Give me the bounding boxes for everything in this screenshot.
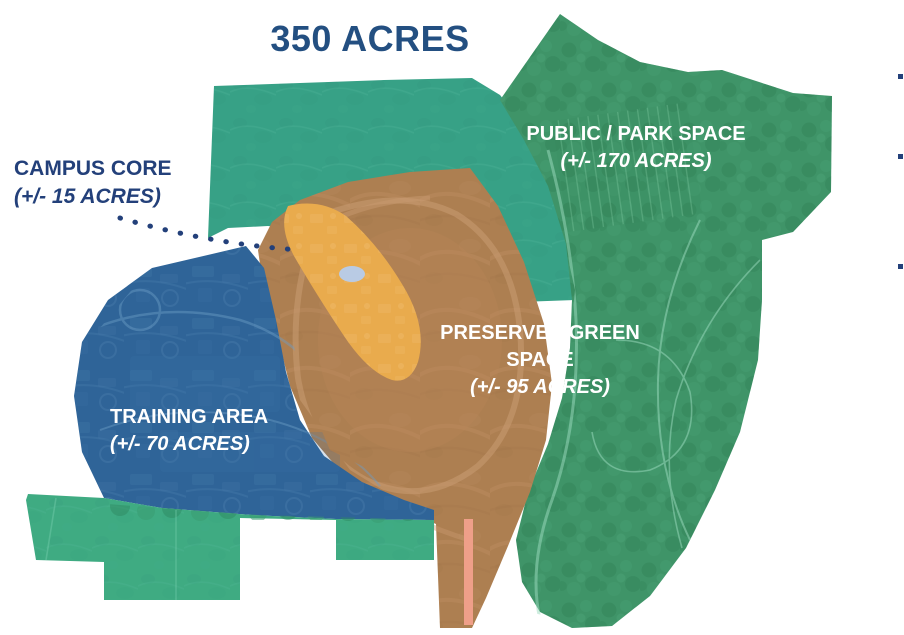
edge-bullet-marker-1	[898, 74, 903, 79]
callout-training-area-title: TRAINING AREA	[110, 404, 330, 431]
callout-campus-core[interactable]: CAMPUS CORE (+/- 15 ACRES)	[14, 155, 172, 210]
land-use-map[interactable]	[0, 0, 904, 635]
callout-preserved-green-space-title-line2: SPACE	[420, 347, 660, 374]
page-title: 350 ACRES	[0, 18, 740, 60]
callout-preserved-green-space[interactable]: PRESERVED GREEN SPACE (+/- 95 ACRES)	[420, 320, 660, 401]
callout-campus-core-acreage: (+/- 15 ACRES)	[14, 183, 172, 211]
callout-training-area[interactable]: TRAINING AREA (+/- 70 ACRES)	[110, 404, 330, 458]
callout-public-park-space-title: PUBLIC / PARK SPACE	[506, 121, 766, 148]
callout-training-area-acreage: (+/- 70 ACRES)	[110, 431, 330, 458]
callout-preserved-green-space-title-line1: PRESERVED GREEN	[420, 320, 660, 347]
callout-preserved-green-space-acreage: (+/- 95 ACRES)	[420, 374, 660, 401]
edge-bullet-marker-2	[898, 154, 903, 159]
access-corridor-strip	[464, 519, 473, 625]
callout-public-park-space-acreage: (+/- 170 ACRES)	[506, 148, 766, 175]
callout-campus-core-title: CAMPUS CORE	[14, 155, 172, 183]
edge-bullet-marker-3	[898, 264, 903, 269]
callout-public-park-space[interactable]: PUBLIC / PARK SPACE (+/- 170 ACRES)	[506, 121, 766, 175]
campus-pond	[339, 266, 365, 282]
site-plan-canvas: CAMPUS CORE (+/- 15 ACRES) PUBLIC / PARK…	[0, 0, 904, 635]
